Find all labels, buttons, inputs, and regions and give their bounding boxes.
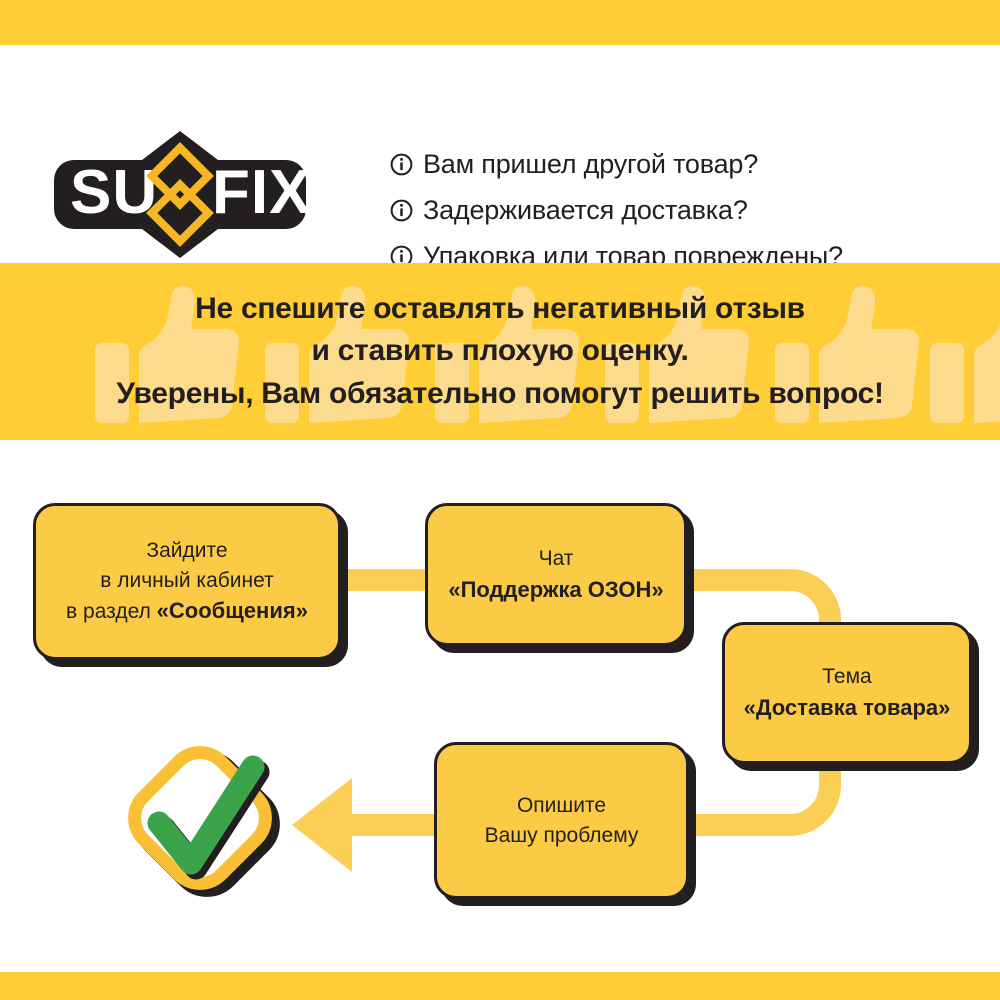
question-list: Вам пришел другой товар? Задерживается д… — [390, 141, 990, 279]
connector-step4-result-arrow — [292, 778, 440, 872]
infographic-page: SU FIX Вам пришел другой товар? — [0, 0, 1000, 1000]
info-icon — [390, 199, 413, 222]
flow-step-4[interactable]: Опишите Вашу проблему — [434, 742, 689, 899]
flow-step-2-line-1: Чат — [539, 544, 574, 574]
question-text: Вам пришел другой товар? — [423, 149, 758, 180]
flow-step-3[interactable]: Тема «Доставка товара» — [722, 622, 972, 764]
top-accent-bar — [0, 0, 1000, 45]
flow-step-1-line-2: в личный кабинет — [100, 566, 273, 596]
svg-text:SU: SU — [70, 158, 158, 227]
banner-text-block: Не спешите оставлять негативный отзыв и … — [0, 263, 1000, 440]
sufix-logo-icon: SU FIX — [44, 123, 316, 266]
flow-step-2[interactable]: Чат «Поддержка ОЗОН» — [425, 503, 687, 646]
flow-step-1-line-1: Зайдите — [146, 536, 227, 566]
flow-step-1-line-3-strong: «Сообщения» — [157, 598, 308, 623]
question-row: Задерживается доставка? — [390, 187, 990, 233]
header-section: SU FIX Вам пришел другой товар? — [0, 45, 1000, 263]
flow-step-1-line-3: в раздел «Сообщения» — [66, 595, 308, 627]
flow-step-2-line-2: «Поддержка ОЗОН» — [448, 574, 663, 605]
info-icon — [390, 153, 413, 176]
flow-step-1[interactable]: Зайдите в личный кабинет в раздел «Сообщ… — [33, 503, 341, 660]
flow-step-3-line-1: Тема — [822, 662, 871, 692]
brand-logo: SU FIX — [44, 123, 316, 266]
bottom-accent-bar — [0, 972, 1000, 1000]
notice-banner: Не спешите оставлять негативный отзыв и … — [0, 263, 1000, 440]
flow-step-3-line-2: «Доставка товара» — [744, 692, 951, 723]
banner-line: и ставить плохую оценку. — [311, 333, 688, 370]
check-mark-icon — [112, 725, 294, 915]
banner-line: Не спешите оставлять негативный отзыв — [195, 291, 805, 328]
flowchart-section: Зайдите в личный кабинет в раздел «Сообщ… — [0, 440, 1000, 972]
success-check-badge — [112, 725, 294, 915]
question-row: Вам пришел другой товар? — [390, 141, 990, 187]
question-text: Задерживается доставка? — [423, 195, 748, 226]
svg-text:FIX: FIX — [212, 158, 311, 227]
banner-line: Уверены, Вам обязательно помогут решить … — [116, 376, 883, 413]
flow-step-4-line-1: Опишите — [517, 791, 606, 821]
flow-step-1-line-3-prefix: в раздел — [66, 600, 157, 623]
flow-step-4-line-2: Вашу проблему — [485, 821, 639, 851]
